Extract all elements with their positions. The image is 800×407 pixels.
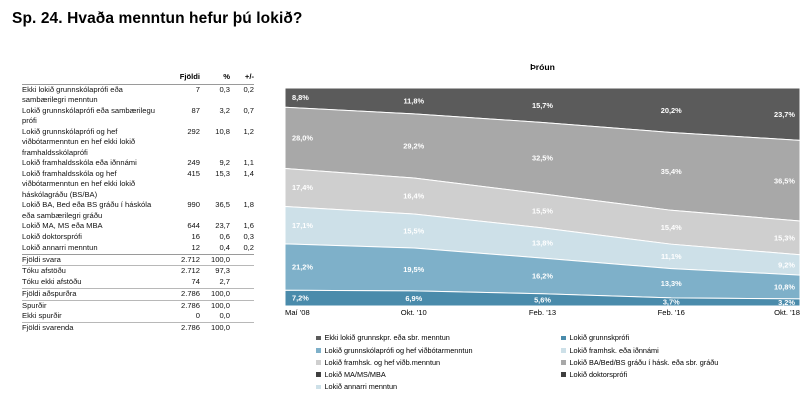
- table-header-row: Fjöldi % +/-: [22, 72, 254, 84]
- row-label: Lokið grunnskólaprófi eða sambærilegu pr…: [22, 106, 166, 127]
- row-count: 74: [166, 277, 200, 288]
- row-delta: 0,2: [230, 84, 254, 105]
- row-label: Lokið grunnskólaprófi og hef viðbótarmen…: [22, 127, 166, 158]
- data-label: 15,3%: [774, 233, 795, 242]
- legend-swatch-icon: [316, 348, 321, 353]
- legend-swatch-icon: [561, 372, 566, 377]
- data-label: 11,1%: [661, 252, 682, 261]
- row-count: 990: [166, 200, 200, 221]
- data-label: 15,4%: [661, 223, 682, 232]
- row-label: Ekki lokið grunnskólaprófi eða sambærile…: [22, 84, 166, 105]
- row-label: Spurðir: [22, 300, 166, 311]
- data-label: 17,4%: [292, 183, 313, 192]
- row-count: 7: [166, 84, 200, 105]
- row-percent: 97,3: [200, 266, 230, 277]
- row-percent: 2,7: [200, 277, 230, 288]
- row-label: Lokið doktorsprófi: [22, 232, 166, 243]
- row-percent: 0,3: [200, 84, 230, 105]
- row-label: Lokið annarri menntun: [22, 243, 166, 254]
- data-label: 11,8%: [403, 97, 424, 106]
- data-label: 28,0%: [292, 133, 313, 142]
- row-percent: 10,8: [200, 127, 230, 158]
- row-count: 644: [166, 221, 200, 232]
- legend-label: Lokið BA/Bed/BS gráðu í hásk. eða sbr. g…: [570, 359, 719, 366]
- data-label: 13,3%: [661, 279, 682, 288]
- legend-swatch-icon: [316, 385, 321, 390]
- table-row: Lokið BA, Bed eða BS gráðu í háskóla eða…: [22, 200, 254, 221]
- data-label: 20,2%: [661, 106, 682, 115]
- row-label: Ekki spurðir: [22, 311, 166, 322]
- data-label: 6,9%: [405, 294, 422, 303]
- legend-label: Lokið grunnskprófi: [570, 334, 630, 341]
- row-delta: [230, 277, 254, 288]
- data-label: 16,4%: [403, 192, 424, 201]
- legend-label: Lokið annarri menntun: [325, 383, 398, 390]
- data-label: 17,1%: [292, 221, 313, 230]
- row-percent: 100,0: [200, 254, 230, 266]
- row-delta: [230, 254, 254, 266]
- row-count: 2.786: [166, 288, 200, 300]
- row-label: Lokið BA, Bed eða BS gráðu í háskóla eða…: [22, 200, 166, 221]
- row-count: 292: [166, 127, 200, 158]
- data-label: 7,2%: [292, 294, 309, 303]
- row-percent: 0,0: [200, 311, 230, 322]
- table-row: Ekki spurðir00,0: [22, 311, 254, 322]
- data-label: 13,8%: [532, 239, 553, 248]
- row-percent: 9,2: [200, 158, 230, 169]
- row-delta: [230, 311, 254, 322]
- row-count: 249: [166, 158, 200, 169]
- legend-item[interactable]: Lokið grunnskprófi: [561, 332, 800, 344]
- row-percent: 0,4: [200, 243, 230, 254]
- row-percent: 100,0: [200, 288, 230, 300]
- row-count: 12: [166, 243, 200, 254]
- row-percent: 15,3: [200, 169, 230, 200]
- row-percent: 23,7: [200, 221, 230, 232]
- table-row: Lokið framhaldsskóla og hef viðbótarmenn…: [22, 169, 254, 200]
- col-header-delta: +/-: [230, 72, 254, 84]
- data-label: 15,5%: [532, 206, 553, 215]
- data-label: 3,7%: [663, 298, 680, 306]
- row-delta: 1,1: [230, 158, 254, 169]
- table-row: Lokið annarri menntun120,40,2: [22, 243, 254, 254]
- table-row: Fjöldi svara2.712100,0: [22, 254, 254, 266]
- legend-column-right: Lokið grunnskprófiLokið framhsk. eða iðn…: [561, 332, 800, 381]
- data-label: 9,2%: [778, 261, 795, 270]
- row-delta: [230, 266, 254, 277]
- row-percent: 0,6: [200, 232, 230, 243]
- legend-item[interactable]: Lokið grunnskólaprófi og hef viðbótarmen…: [316, 344, 566, 356]
- row-delta: 1,8: [230, 200, 254, 221]
- legend-item[interactable]: Ekki lokið grunnskpr. eða sbr. menntun: [316, 332, 566, 344]
- data-label: 5,6%: [534, 295, 551, 304]
- row-label: Fjöldi aðspurðra: [22, 288, 166, 300]
- data-label: 32,5%: [532, 154, 553, 163]
- slide-root: Sp. 24. Hvaða menntun hefur þú lokið? Fj…: [0, 0, 800, 407]
- legend-label: Lokið grunnskólaprófi og hef viðbótarmen…: [325, 347, 473, 354]
- table-body: Ekki lokið grunnskólaprófi eða sambærile…: [22, 84, 254, 334]
- table-row: Fjöldi svarenda2.786100,0: [22, 323, 254, 334]
- row-label: Lokið MA, MS eða MBA: [22, 221, 166, 232]
- row-count: 2.786: [166, 323, 200, 334]
- row-delta: 1,2: [230, 127, 254, 158]
- x-axis-tick-label: Okt. '10: [401, 308, 427, 317]
- row-percent: 100,0: [200, 300, 230, 311]
- legend-swatch-icon: [316, 360, 321, 365]
- legend-swatch-icon: [561, 336, 566, 341]
- row-label: Tóku afstöðu: [22, 266, 166, 277]
- x-axis-tick-label: Feb. '13: [529, 308, 556, 317]
- row-count: 16: [166, 232, 200, 243]
- x-axis-labels: Maí '08Okt. '10Feb. '13Feb. '16Okt. '18: [285, 308, 800, 322]
- table-row: Ekki lokið grunnskólaprófi eða sambærile…: [22, 84, 254, 105]
- col-header-label: [22, 72, 166, 84]
- legend-item[interactable]: Lokið MA/MS/MBA: [316, 369, 566, 381]
- data-label: 10,8%: [774, 283, 795, 292]
- table-row: Fjöldi aðspurðra2.786100,0: [22, 288, 254, 300]
- data-label: 16,2%: [532, 272, 553, 281]
- row-percent: 100,0: [200, 323, 230, 334]
- table-row: Tóku ekki afstöðu742,7: [22, 277, 254, 288]
- row-label: Fjöldi svara: [22, 254, 166, 266]
- legend-item[interactable]: Lokið framhsk. eða iðnnámi: [561, 344, 800, 356]
- legend-swatch-icon: [316, 336, 321, 341]
- row-percent: 3,2: [200, 106, 230, 127]
- legend-column-left: Ekki lokið grunnskpr. eða sbr. menntunLo…: [316, 332, 566, 393]
- data-label: 15,5%: [403, 227, 424, 236]
- legend-label: Lokið MA/MS/MBA: [325, 371, 386, 378]
- legend-swatch-icon: [561, 360, 566, 365]
- legend-item[interactable]: Lokið doktorsprófi: [561, 369, 800, 381]
- frequency-table: Fjöldi % +/- Ekki lokið grunnskólaprófi …: [22, 72, 254, 334]
- data-label: 29,2%: [403, 142, 424, 151]
- table-row: Lokið grunnskólaprófi eða sambærilegu pr…: [22, 106, 254, 127]
- legend-swatch-icon: [561, 348, 566, 353]
- chart-svg: 8,8%11,8%15,7%20,2%23,7%28,0%29,2%32,5%3…: [285, 88, 800, 306]
- legend-item[interactable]: Lokið framhsk. og hef viðb.menntun: [316, 356, 566, 368]
- data-label: 3,2%: [778, 298, 795, 306]
- data-label: 23,7%: [774, 110, 795, 119]
- row-count: 415: [166, 169, 200, 200]
- row-delta: 0,2: [230, 243, 254, 254]
- table-row: Lokið framhaldsskóla eða iðnnámi2499,21,…: [22, 158, 254, 169]
- chart-title: Þróun: [285, 62, 800, 72]
- data-label: 35,4%: [661, 167, 682, 176]
- table-head: Fjöldi % +/-: [22, 72, 254, 84]
- legend-label: Lokið framhsk. og hef viðb.menntun: [325, 359, 441, 366]
- row-count: 0: [166, 311, 200, 322]
- row-percent: 36,5: [200, 200, 230, 221]
- row-label: Tóku ekki afstöðu: [22, 277, 166, 288]
- data-label: 21,2%: [292, 263, 313, 272]
- legend-swatch-icon: [316, 372, 321, 377]
- data-label: 19,5%: [403, 265, 424, 274]
- row-delta: [230, 300, 254, 311]
- row-delta: 0,7: [230, 106, 254, 127]
- row-count: 2.712: [166, 254, 200, 266]
- x-axis-tick-label: Okt. '18: [774, 308, 800, 317]
- table-row: Lokið MA, MS eða MBA64423,71,6: [22, 221, 254, 232]
- x-axis-tick-label: Maí '08: [285, 308, 310, 317]
- data-label: 8,8%: [292, 93, 309, 102]
- row-delta: [230, 323, 254, 334]
- data-label: 36,5%: [774, 176, 795, 185]
- row-count: 2.786: [166, 300, 200, 311]
- row-label: Lokið framhaldsskóla og hef viðbótarmenn…: [22, 169, 166, 200]
- row-delta: [230, 288, 254, 300]
- page-title: Sp. 24. Hvaða menntun hefur þú lokið?: [12, 10, 302, 28]
- legend-label: Lokið framhsk. eða iðnnámi: [570, 347, 659, 354]
- frequency-table-container: Fjöldi % +/- Ekki lokið grunnskólaprófi …: [22, 72, 254, 334]
- row-delta: 1,4: [230, 169, 254, 200]
- row-label: Lokið framhaldsskóla eða iðnnámi: [22, 158, 166, 169]
- row-count: 2.712: [166, 266, 200, 277]
- row-delta: 1,6: [230, 221, 254, 232]
- data-label: 15,7%: [532, 101, 553, 110]
- legend-label: Ekki lokið grunnskpr. eða sbr. menntun: [325, 334, 450, 341]
- legend-label: Lokið doktorsprófi: [570, 371, 628, 378]
- table-row: Spurðir2.786100,0: [22, 300, 254, 311]
- legend-item[interactable]: Lokið BA/Bed/BS gráðu í hásk. eða sbr. g…: [561, 356, 800, 368]
- legend-item[interactable]: Lokið annarri menntun: [316, 381, 566, 393]
- row-count: 87: [166, 106, 200, 127]
- x-axis-tick-label: Feb. '16: [658, 308, 685, 317]
- table-row: Lokið grunnskólaprófi og hef viðbótarmen…: [22, 127, 254, 158]
- stacked-area-chart: 8,8%11,8%15,7%20,2%23,7%28,0%29,2%32,5%3…: [285, 88, 800, 306]
- table-row: Lokið doktorsprófi160,60,3: [22, 232, 254, 243]
- row-delta: 0,3: [230, 232, 254, 243]
- col-header-percent: %: [200, 72, 230, 84]
- col-header-count: Fjöldi: [166, 72, 200, 84]
- table-row: Tóku afstöðu2.71297,3: [22, 266, 254, 277]
- row-label: Fjöldi svarenda: [22, 323, 166, 334]
